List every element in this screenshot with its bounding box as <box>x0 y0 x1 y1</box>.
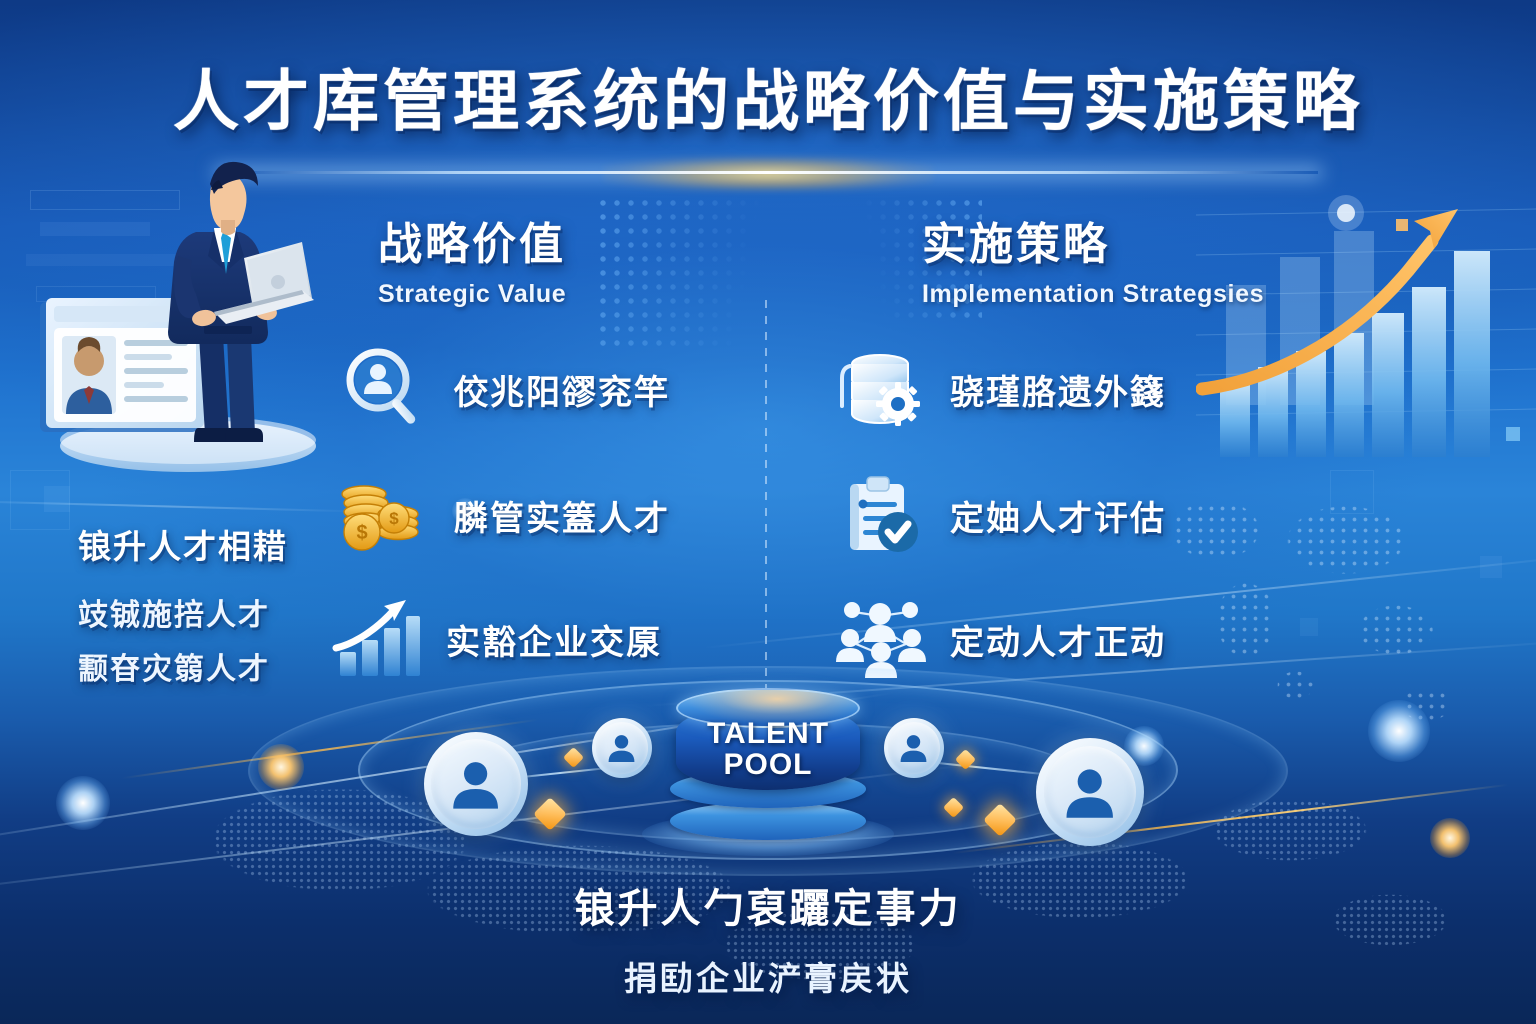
glow-line <box>218 171 1318 174</box>
avatar-large-right[interactable] <box>1036 738 1144 846</box>
clipboard-check-icon <box>836 474 928 556</box>
heading-en-right: Implementation Strategsies <box>922 280 1264 309</box>
avatar-small-left[interactable] <box>592 718 652 778</box>
feature-left-3-label: 实豁企业交厡 <box>446 615 662 664</box>
tech-rect-8 <box>1480 556 1502 578</box>
feature-left-1[interactable]: 佼兆阳豂兖竿 <box>340 348 670 430</box>
glow-sun <box>603 156 933 192</box>
feature-left-2-label: 膦管实篕人才 <box>454 491 670 540</box>
avatar-large-left[interactable] <box>424 732 528 836</box>
halftone-dots-left <box>596 196 766 346</box>
talent-pool-database[interactable]: TALENT POOL <box>670 686 866 846</box>
page-title-wrapper: 人才库管理系统的战略价值与实施策略 <box>0 48 1536 144</box>
bottom-caption: 锒升人勹裒躧定事力 捐劻企业浐膏戻状 <box>0 876 1536 1000</box>
feature-right-3-label: 定动人才正动 <box>950 615 1166 664</box>
light-streak-5 <box>0 500 360 513</box>
side-line-sub-1: 攱铖施掊人才 <box>78 590 288 634</box>
page-title: 人才库管理系统的战略价值与实施策略 <box>0 48 1536 144</box>
feature-right-1[interactable]: 骁瑾胳遗外籛 <box>836 348 1166 430</box>
feature-left-1-label: 佼兆阳豂兖竿 <box>454 365 670 414</box>
feature-right-2-label: 定妯人才讦估 <box>950 491 1166 540</box>
caption-line-2: 捐劻企业浐膏戻状 <box>0 952 1536 1000</box>
talent-pool-hub: TALENT POOL <box>0 660 1536 890</box>
gold-coins-icon: $ $ <box>340 474 432 556</box>
feature-right-1-label: 骁瑾胳遗外籛 <box>950 365 1166 414</box>
database-label: TALENT POOL <box>670 718 866 780</box>
businessman-illustration <box>18 140 348 490</box>
implementation-strategies-heading: 实施策略 Implementation Strategsies <box>922 208 1264 309</box>
feature-left-2[interactable]: $ $ 膦管实篕人才 <box>340 474 670 556</box>
heading-cn-right: 实施策略 <box>922 208 1264 272</box>
side-line-main: 锒升人才相耤 <box>78 520 288 568</box>
caption-line-1: 锒升人勹裒躧定事力 <box>0 876 1536 934</box>
infographic-poster: 人才库管理系统的战略价值与实施策略 战略价值 Strategic Value 实… <box>0 0 1536 1024</box>
column-divider <box>765 300 767 690</box>
strategic-value-heading: 战略价值 Strategic Value <box>378 208 566 309</box>
person-search-icon <box>340 348 432 430</box>
svg-text:$: $ <box>356 522 367 544</box>
svg-text:$: $ <box>389 509 399 528</box>
heading-cn-left: 战略价值 <box>378 208 566 272</box>
tech-rect-9 <box>1300 618 1318 636</box>
feature-right-2[interactable]: 定妯人才讦估 <box>836 474 1166 556</box>
database-label-line1: TALENT <box>670 718 866 749</box>
database-label-line2: POOL <box>670 749 866 780</box>
heading-en-left: Strategic Value <box>378 280 566 309</box>
database-gear-icon <box>836 348 928 430</box>
avatar-small-right[interactable] <box>884 718 944 778</box>
